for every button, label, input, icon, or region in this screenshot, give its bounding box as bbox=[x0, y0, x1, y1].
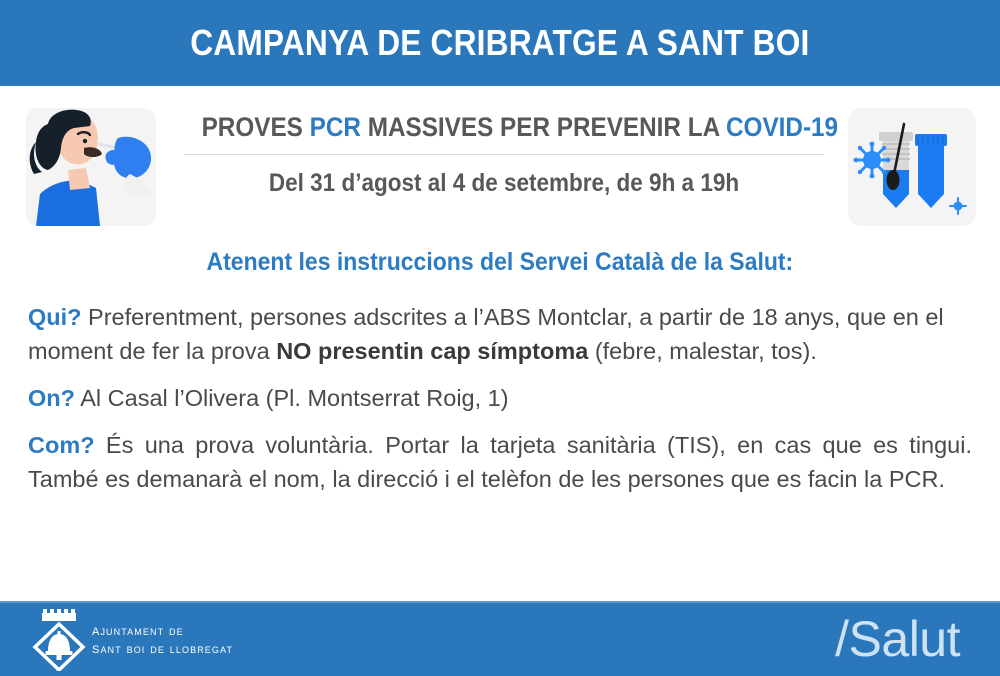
header-band: CAMPANYA DE CRIBRATGE A SANT BOI bbox=[0, 0, 1000, 86]
paragraph-on: On? Al Casal l’Olivera (Pl. Montserrat R… bbox=[28, 381, 972, 415]
hero-row: PROVES PCR MASSIVES PER PREVENIR LA COVI… bbox=[0, 86, 1000, 241]
paragraph-qui: Qui? Preferentment, persones adscrites a… bbox=[28, 300, 972, 368]
headline-text-1: PROVES bbox=[202, 112, 310, 142]
municipality-line-1: Ajuntament de bbox=[92, 622, 233, 640]
footer-band: Ajuntament de Sant Boi de Llobregat /Sal… bbox=[0, 601, 1000, 676]
hero-headline-block: PROVES PCR MASSIVES PER PREVENIR LA COVI… bbox=[168, 86, 840, 198]
paragraph-com: Com? És una prova voluntària. Portar la … bbox=[28, 428, 972, 496]
headline-accent-pcr: PCR bbox=[310, 112, 361, 142]
poster-root: CAMPANYA DE CRIBRATGE A SANT BOI bbox=[0, 0, 1000, 676]
municipality-line-2: Sant Boi de Llobregat bbox=[92, 640, 233, 658]
instruction-headline: Atenent les instruccions del Servei Cata… bbox=[0, 248, 1000, 277]
headline-text-2: MASSIVES PER PREVENIR LA bbox=[361, 112, 726, 142]
headline-accent-covid: COVID-19 bbox=[726, 112, 838, 142]
label-qui: Qui? bbox=[28, 304, 82, 330]
headline-divider bbox=[184, 154, 824, 155]
municipality-name: Ajuntament de Sant Boi de Llobregat bbox=[92, 622, 233, 658]
instruction-text: Atenent les instruccions del Servei Cata… bbox=[207, 248, 794, 277]
test-tubes-virus-icon bbox=[848, 108, 976, 226]
label-com: Com? bbox=[28, 432, 95, 458]
campaign-date-line: Del 31 d’agost al 4 de setembre, de 9h a… bbox=[202, 169, 807, 198]
sant-boi-coat-of-arms bbox=[30, 609, 88, 671]
qui-text-after: (febre, malestar, tos). bbox=[588, 338, 817, 364]
salut-brand-logo: /Salut bbox=[835, 610, 960, 668]
page-title: CAMPANYA DE CRIBRATGE A SANT BOI bbox=[190, 22, 809, 64]
label-on: On? bbox=[28, 385, 75, 411]
body-content: Qui? Preferentment, persones adscrites a… bbox=[28, 300, 972, 509]
qui-bold-phrase: NO presentin cap símptoma bbox=[276, 338, 588, 364]
on-text: Al Casal l’Olivera (Pl. Montserrat Roig,… bbox=[75, 385, 509, 411]
nasal-swab-test-illustration bbox=[26, 108, 156, 226]
hero-headline: PROVES PCR MASSIVES PER PREVENIR LA COVI… bbox=[202, 112, 807, 143]
com-text: És una prova voluntària. Portar la tarje… bbox=[28, 432, 972, 492]
